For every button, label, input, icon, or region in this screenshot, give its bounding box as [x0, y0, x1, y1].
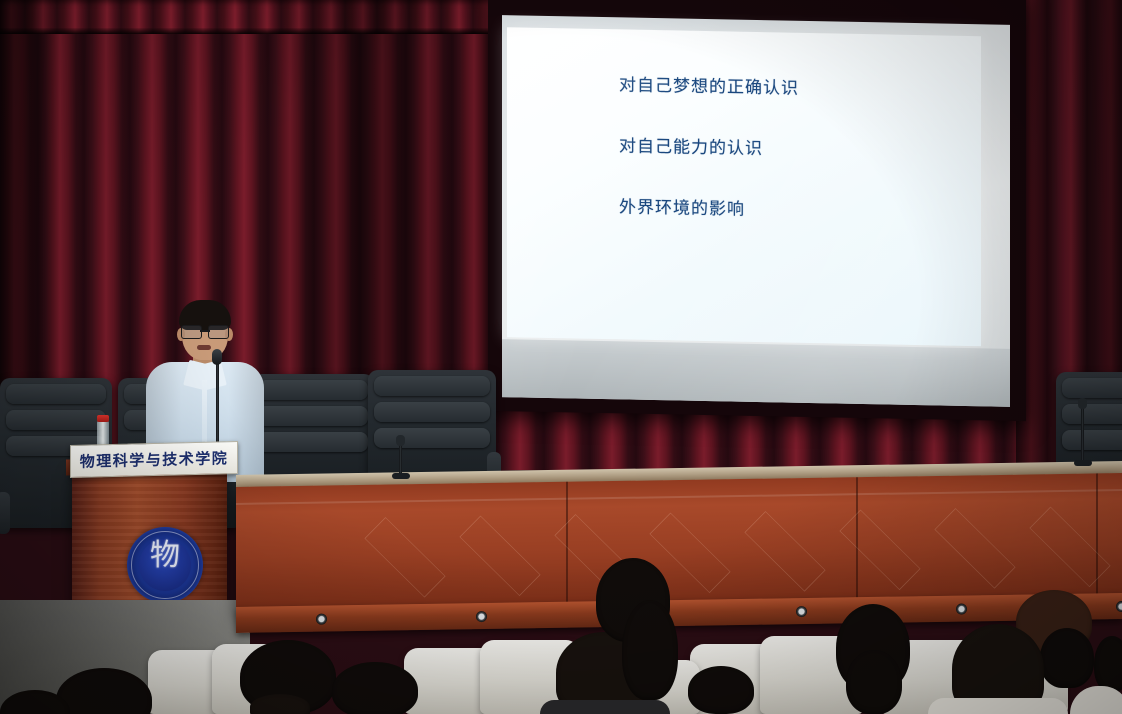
- screen-lower-band: [502, 339, 1010, 407]
- audience-head: [622, 600, 678, 700]
- emblem-glyph: 物: [127, 541, 203, 571]
- table-inlay-diamond: [744, 511, 825, 591]
- university-emblem: 物: [127, 527, 203, 603]
- glasses-icon: [181, 325, 229, 337]
- audience-head: [1094, 636, 1122, 692]
- chair-cushion: [258, 432, 368, 452]
- table-panel-seam: [1096, 473, 1098, 601]
- table-inlay-diamond: [934, 508, 1015, 588]
- audience-head: [332, 662, 418, 714]
- audience-head: [250, 694, 310, 714]
- audience-shoulders: [928, 698, 1068, 714]
- chair-arm: [0, 492, 10, 534]
- podium-microphone-head: [212, 349, 222, 365]
- rail-grommet: [796, 606, 807, 617]
- chair-cushion: [6, 410, 106, 430]
- chair-cushion: [374, 402, 490, 422]
- chair-cushion: [1062, 378, 1122, 398]
- lectern-sign-text: 物理科学与技术学院: [80, 447, 229, 472]
- glasses-bridge: [200, 330, 210, 332]
- table-microphone: [1081, 404, 1084, 462]
- table-inlay-diamond: [839, 510, 920, 590]
- audience-head: [688, 666, 754, 714]
- chair-cushion: [374, 428, 490, 448]
- chair-cushion: [1062, 430, 1122, 450]
- rail-grommet: [476, 611, 487, 622]
- slide-line-2: 对自己能力的认识: [619, 138, 961, 162]
- rail-grommet: [316, 614, 327, 625]
- rail-grommet: [956, 603, 967, 614]
- lecture-hall-photo: 对自己梦想的正确认识 对自己能力的认识 外界环境的影响: [0, 0, 1122, 714]
- table-microphone: [399, 441, 402, 475]
- water-bottle-cap: [97, 415, 109, 422]
- speaker-mouth: [197, 345, 211, 350]
- audience-head: [1040, 628, 1094, 688]
- table-inlay-diamond: [459, 516, 540, 596]
- presentation-slide: 对自己梦想的正确认识 对自己能力的认识 外界环境的影响: [507, 27, 981, 346]
- table-inlay-diamond: [364, 517, 445, 597]
- glasses-lens-left: [181, 325, 202, 339]
- stage-chair-3: [252, 374, 374, 482]
- slide-line-1: 对自己梦想的正确认识: [619, 77, 961, 101]
- slide-text-block: 对自己梦想的正确认识 对自己能力的认识 外界环境的影响: [619, 77, 961, 267]
- lectern-name-sign: 物理科学与技术学院: [70, 441, 238, 478]
- rail-grommet: [1116, 601, 1122, 612]
- chair-cushion: [258, 380, 368, 400]
- projection-screen: 对自己梦想的正确认识 对自己能力的认识 外界环境的影响: [488, 0, 1026, 421]
- slide-line-3: 外界环境的影响: [619, 199, 961, 223]
- podium-microphone-stem: [216, 355, 219, 447]
- audience-shoulders: [540, 700, 670, 714]
- table-inlay-diamond: [1029, 507, 1110, 587]
- chair-cushion: [6, 384, 106, 404]
- chair-cushion: [374, 376, 490, 396]
- audience-shoulders: [1070, 686, 1122, 714]
- stage-chair-4: [368, 370, 496, 482]
- chair-cushion: [1062, 404, 1122, 424]
- chair-cushion: [258, 406, 368, 426]
- conference-table-front: [236, 473, 1122, 615]
- audience-head: [846, 650, 902, 714]
- glasses-lens-right: [208, 325, 229, 339]
